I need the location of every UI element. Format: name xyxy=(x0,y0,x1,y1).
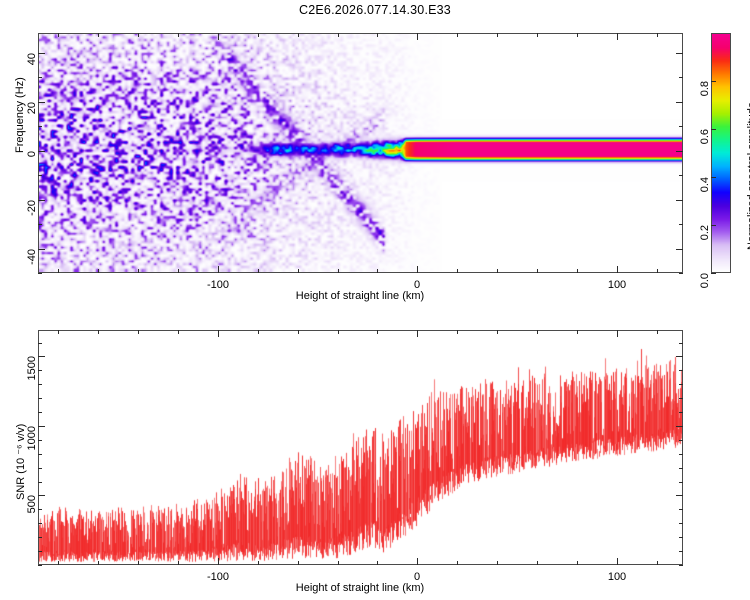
x-minor-tick xyxy=(258,561,259,565)
spectrogram-ylabel: Frequency (Hz) xyxy=(14,77,26,153)
y-minor-tick xyxy=(38,126,42,127)
y-minor-tick xyxy=(679,412,683,413)
y-major-tick xyxy=(38,426,45,427)
x-major-tick xyxy=(617,330,618,337)
x-minor-tick xyxy=(338,330,339,334)
y-major-tick xyxy=(38,53,45,54)
colorbar-label: Normalized spectral amplitude xyxy=(746,102,750,250)
x-minor-tick xyxy=(58,33,59,37)
y-major-tick xyxy=(676,356,683,357)
x-minor-tick xyxy=(138,330,139,334)
x-minor-tick xyxy=(497,269,498,273)
colorbar-tick xyxy=(711,129,716,130)
y-major-tick xyxy=(38,356,45,357)
x-minor-tick xyxy=(577,269,578,273)
x-minor-tick xyxy=(497,330,498,334)
x-minor-tick xyxy=(457,561,458,565)
x-major-tick xyxy=(617,558,618,565)
snr-xlabel: Height of straight line (km) xyxy=(296,582,424,594)
y-minor-tick xyxy=(679,370,683,371)
y-tick-label: 20 xyxy=(26,102,38,114)
colorbar-tick-label: 0.6 xyxy=(699,129,711,144)
colorbar-tick-label: 0.8 xyxy=(699,81,711,96)
x-major-tick xyxy=(218,266,219,273)
snr-ylabel: SNR (10 ⁻⁶ v/v) xyxy=(14,424,27,500)
y-major-tick xyxy=(38,151,45,152)
x-tick-label: 100 xyxy=(608,571,626,583)
y-tick-label: 40 xyxy=(26,53,38,65)
y-minor-tick xyxy=(679,440,683,441)
y-minor-tick xyxy=(679,175,683,176)
y-minor-tick xyxy=(38,398,42,399)
x-minor-tick xyxy=(377,269,378,273)
y-minor-tick xyxy=(679,224,683,225)
snr-height-plot xyxy=(38,330,683,565)
y-tick-label: 1000 xyxy=(26,426,38,450)
x-minor-tick xyxy=(657,269,658,273)
x-minor-tick xyxy=(338,561,339,565)
y-minor-tick xyxy=(679,273,683,274)
x-minor-tick xyxy=(537,561,538,565)
x-minor-tick xyxy=(457,330,458,334)
x-minor-tick xyxy=(178,33,179,37)
x-minor-tick xyxy=(138,33,139,37)
x-minor-tick xyxy=(537,269,538,273)
x-minor-tick xyxy=(298,269,299,273)
y-tick-label: -20 xyxy=(26,200,38,216)
y-minor-tick xyxy=(38,384,42,385)
colorbar-tick-label: 0.2 xyxy=(699,225,711,240)
y-minor-tick xyxy=(679,454,683,455)
x-minor-tick xyxy=(298,561,299,565)
y-minor-tick xyxy=(38,565,42,566)
colorbar-tick-label: 0.4 xyxy=(699,177,711,192)
y-minor-tick xyxy=(38,175,42,176)
y-minor-tick xyxy=(38,454,42,455)
x-minor-tick xyxy=(138,561,139,565)
y-minor-tick xyxy=(679,565,683,566)
x-minor-tick xyxy=(457,269,458,273)
x-minor-tick xyxy=(58,269,59,273)
x-minor-tick xyxy=(497,561,498,565)
y-minor-tick xyxy=(38,509,42,510)
y-major-tick xyxy=(38,495,45,496)
y-minor-tick xyxy=(38,551,42,552)
y-tick-label: 1500 xyxy=(26,356,38,380)
colorbar-tick xyxy=(711,225,716,226)
x-minor-tick xyxy=(58,330,59,334)
y-minor-tick xyxy=(679,551,683,552)
y-minor-tick xyxy=(679,77,683,78)
x-major-tick xyxy=(218,558,219,565)
y-minor-tick xyxy=(38,343,42,344)
x-minor-tick xyxy=(58,561,59,565)
x-major-tick xyxy=(417,558,418,565)
x-major-tick xyxy=(417,33,418,40)
x-tick-label: -100 xyxy=(207,571,229,583)
y-major-tick xyxy=(676,495,683,496)
x-minor-tick xyxy=(497,33,498,37)
y-minor-tick xyxy=(38,412,42,413)
colorbar-tick xyxy=(711,273,716,274)
x-minor-tick xyxy=(537,33,538,37)
x-minor-tick xyxy=(657,33,658,37)
y-minor-tick xyxy=(679,398,683,399)
y-minor-tick xyxy=(679,126,683,127)
x-minor-tick xyxy=(178,561,179,565)
x-minor-tick xyxy=(338,33,339,37)
y-major-tick xyxy=(38,249,45,250)
y-minor-tick xyxy=(38,468,42,469)
y-minor-tick xyxy=(679,509,683,510)
y-major-tick xyxy=(38,102,45,103)
y-tick-label: 0 xyxy=(26,151,38,157)
y-minor-tick xyxy=(679,523,683,524)
y-minor-tick xyxy=(679,537,683,538)
figure-title: C2E6.2026.077.14.30.E33 xyxy=(0,3,750,17)
x-minor-tick xyxy=(98,330,99,334)
x-major-tick xyxy=(218,33,219,40)
y-minor-tick xyxy=(679,343,683,344)
x-minor-tick xyxy=(98,269,99,273)
x-minor-tick xyxy=(258,269,259,273)
y-major-tick xyxy=(676,102,683,103)
x-major-tick xyxy=(617,266,618,273)
x-minor-tick xyxy=(377,330,378,334)
x-minor-tick xyxy=(657,330,658,334)
y-minor-tick xyxy=(38,370,42,371)
colorbar-tick xyxy=(711,81,716,82)
x-minor-tick xyxy=(657,561,658,565)
y-minor-tick xyxy=(679,482,683,483)
y-major-tick xyxy=(676,53,683,54)
x-tick-label: -100 xyxy=(207,279,229,291)
x-minor-tick xyxy=(377,561,378,565)
x-tick-label: 100 xyxy=(608,279,626,291)
x-minor-tick xyxy=(298,33,299,37)
frequency-height-spectrogram xyxy=(38,33,683,273)
y-major-tick xyxy=(676,151,683,152)
y-major-tick xyxy=(676,426,683,427)
y-major-tick xyxy=(38,200,45,201)
x-minor-tick xyxy=(98,561,99,565)
y-tick-label: 500 xyxy=(26,495,38,513)
x-minor-tick xyxy=(138,269,139,273)
x-minor-tick xyxy=(258,33,259,37)
x-major-tick xyxy=(617,33,618,40)
y-minor-tick xyxy=(38,537,42,538)
y-minor-tick xyxy=(38,273,42,274)
normalized-spectral-amplitude-colorbar xyxy=(711,33,731,273)
y-tick-label: -40 xyxy=(26,249,38,265)
x-minor-tick xyxy=(298,330,299,334)
x-minor-tick xyxy=(178,269,179,273)
x-minor-tick xyxy=(98,33,99,37)
spectrogram-xlabel: Height of straight line (km) xyxy=(296,290,424,302)
colorbar-tick-label: 0.0 xyxy=(699,273,711,288)
x-minor-tick xyxy=(258,330,259,334)
x-minor-tick xyxy=(377,33,378,37)
figure-root: C2E6.2026.077.14.30.E33 -100010040200-20… xyxy=(0,0,750,600)
y-major-tick xyxy=(676,249,683,250)
y-major-tick xyxy=(676,200,683,201)
x-minor-tick xyxy=(577,330,578,334)
x-major-tick xyxy=(417,266,418,273)
x-minor-tick xyxy=(457,33,458,37)
y-minor-tick xyxy=(38,440,42,441)
y-minor-tick xyxy=(38,224,42,225)
x-minor-tick xyxy=(178,330,179,334)
y-minor-tick xyxy=(38,482,42,483)
y-minor-tick xyxy=(679,384,683,385)
x-minor-tick xyxy=(537,330,538,334)
x-minor-tick xyxy=(577,33,578,37)
colorbar-tick xyxy=(711,177,716,178)
x-major-tick xyxy=(417,330,418,337)
y-minor-tick xyxy=(679,468,683,469)
x-minor-tick xyxy=(577,561,578,565)
x-major-tick xyxy=(218,330,219,337)
y-minor-tick xyxy=(38,523,42,524)
x-minor-tick xyxy=(338,269,339,273)
y-minor-tick xyxy=(38,77,42,78)
